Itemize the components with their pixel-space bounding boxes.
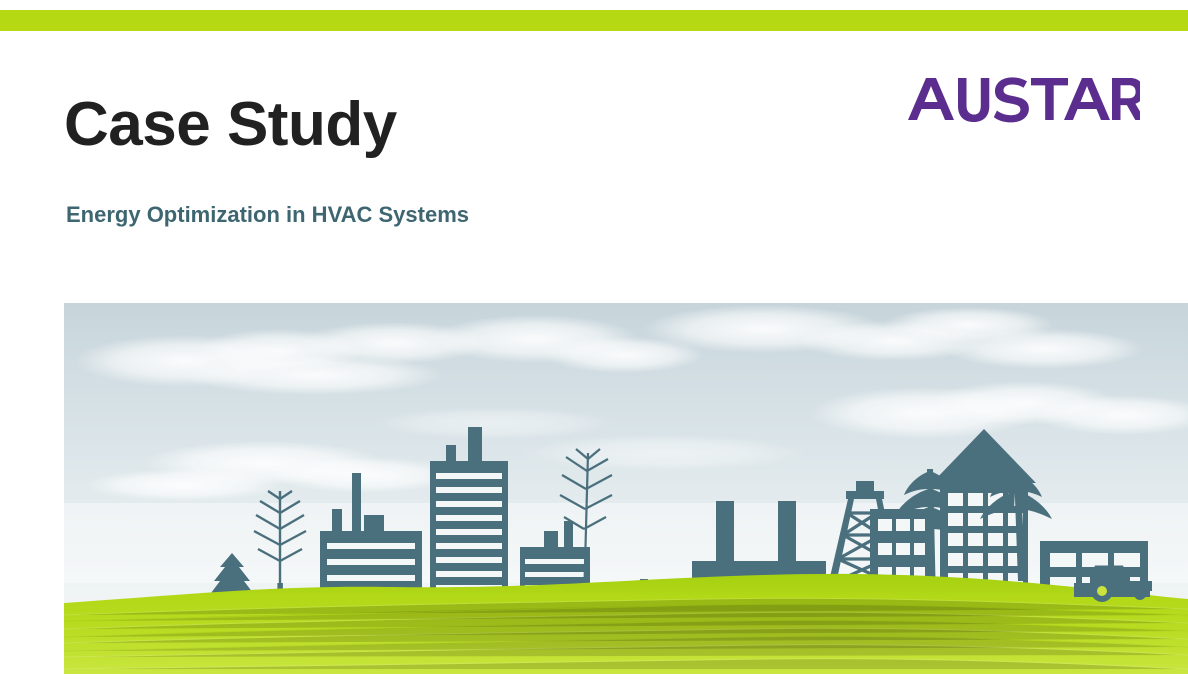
austar-logo[interactable]	[904, 72, 1140, 128]
hero-image: www.austarunion.com	[64, 303, 1188, 674]
slide-canvas: Case Study Energy Optimization in HVAC S…	[0, 0, 1188, 688]
top-accent-bar	[0, 10, 1188, 31]
page-title: Case Study	[64, 94, 397, 156]
page-subtitle: Energy Optimization in HVAC Systems	[66, 204, 469, 226]
